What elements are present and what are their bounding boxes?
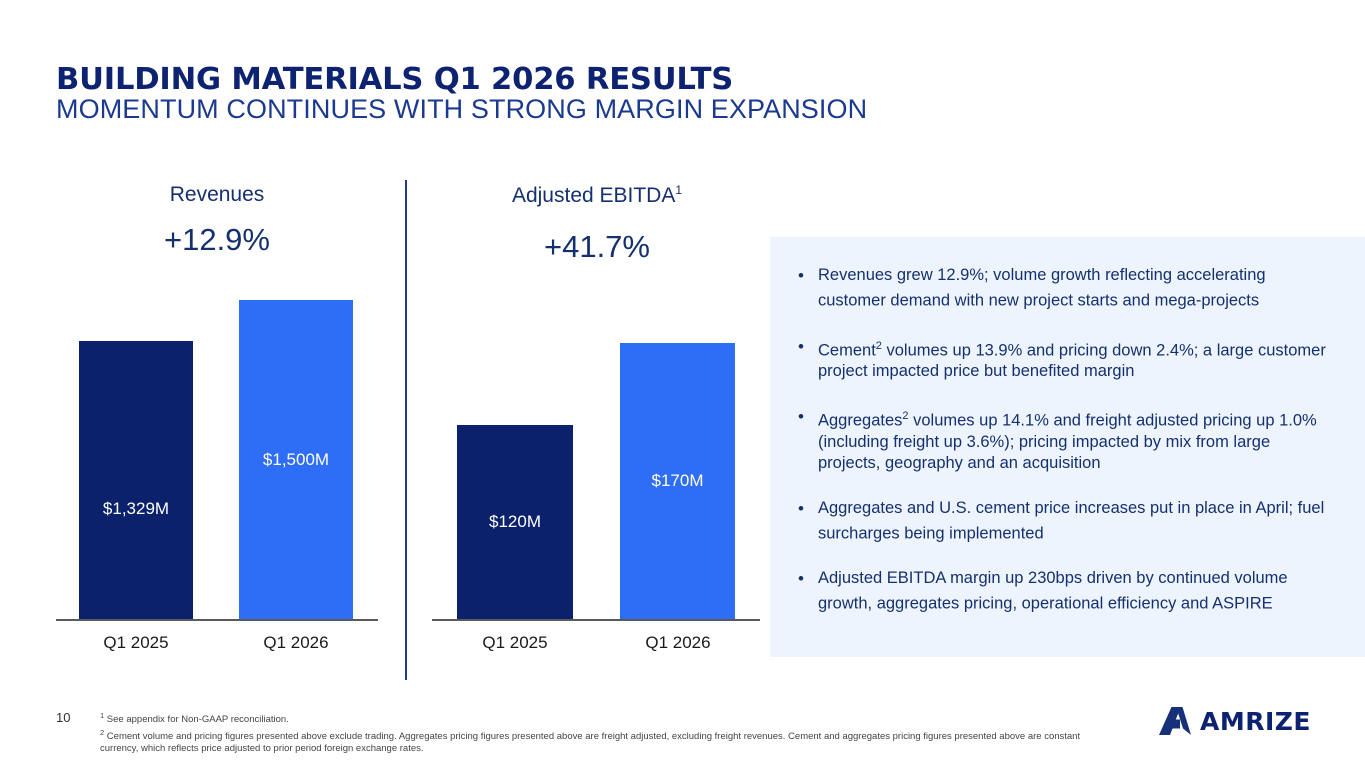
footnote-2-text: Cement volume and pricing figures presen… <box>100 731 1080 755</box>
x-axis-ebitda <box>432 619 760 621</box>
bullet-text-pre: Revenues grew 12.9%; volume growth refle… <box>818 266 1266 310</box>
bar-value-label: $1,329M <box>103 499 169 519</box>
cat-label-ebitda-q1-2026: Q1 2026 <box>618 633 738 653</box>
bullet-text-pre: Cement <box>818 341 876 359</box>
bullet-text-pre: Aggregates and U.S. cement price increas… <box>818 499 1324 543</box>
cat-label-ebitda-q1-2025: Q1 2025 <box>455 633 575 653</box>
bullet-text-pre: Adjusted EBITDA margin up 230bps driven … <box>818 569 1288 613</box>
footnote-1: 1 See appendix for Non-GAAP reconciliati… <box>100 710 1100 727</box>
bar-ebitda-q1-2025[interactable]: $120M <box>457 425 573 619</box>
amrize-logo-text: AMRIZE <box>1200 707 1311 736</box>
bar-value-label: $120M <box>489 512 541 532</box>
chart-ebitda-title: Adjusted EBITDA1 <box>436 183 758 208</box>
chart-revenues-delta: +12.9% <box>56 222 378 258</box>
list-item: • Aggregates and U.S. cement price incre… <box>798 498 1331 545</box>
page-subtitle: MOMENTUM CONTINUES WITH STRONG MARGIN EX… <box>56 94 867 125</box>
bullet-dot-icon: • <box>798 568 818 589</box>
amrize-logo-mark-icon <box>1158 706 1192 736</box>
chart-ebitda-title-text: Adjusted EBITDA <box>512 184 675 207</box>
chart-divider <box>405 180 407 680</box>
footnotes: 1 See appendix for Non-GAAP reconciliati… <box>100 710 1100 756</box>
bullet-dot-icon: • <box>798 265 818 286</box>
footnote-1-text: See appendix for Non-GAAP reconciliation… <box>104 714 289 725</box>
page-title: BUILDING MATERIALS Q1 2026 RESULTS <box>56 62 733 97</box>
list-item: • Adjusted EBITDA margin up 230bps drive… <box>798 568 1331 615</box>
amrize-logo: AMRIZE <box>1158 706 1311 736</box>
bullet-text: Aggregates2 volumes up 14.1% and freight… <box>818 406 1331 474</box>
chart-ebitda-title-superscript: 1 <box>675 183 682 197</box>
cat-label-revenues-q1-2025: Q1 2025 <box>76 633 196 653</box>
bar-value-label: $170M <box>652 471 704 491</box>
bullet-text: Cement2 volumes up 13.9% and pricing dow… <box>818 336 1331 383</box>
bullet-text: Aggregates and U.S. cement price increas… <box>818 498 1331 545</box>
chart-revenues-title-text: Revenues <box>170 183 265 206</box>
bar-ebitda-q1-2026[interactable]: $170M <box>620 343 735 619</box>
bullet-dot-icon: • <box>798 406 818 427</box>
list-item: • Cement2 volumes up 13.9% and pricing d… <box>798 336 1331 383</box>
footnote-2: 2 Cement volume and pricing figures pres… <box>100 727 1100 756</box>
bullet-text: Revenues grew 12.9%; volume growth refle… <box>818 265 1331 312</box>
bullet-text-post: volumes up 13.9% and pricing down 2.4%; … <box>818 341 1326 380</box>
x-axis-revenues <box>56 619 378 621</box>
bar-value-label: $1,500M <box>263 450 329 470</box>
bar-revenues-q1-2026[interactable]: $1,500M <box>239 300 353 619</box>
bullet-text: Adjusted EBITDA margin up 230bps driven … <box>818 568 1331 615</box>
slide-root: BUILDING MATERIALS Q1 2026 RESULTS MOMEN… <box>0 0 1365 768</box>
chart-ebitda-delta: +41.7% <box>436 229 758 265</box>
bar-revenues-q1-2025[interactable]: $1,329M <box>79 341 193 619</box>
list-item: • Aggregates2 volumes up 14.1% and freig… <box>798 406 1331 474</box>
bullet-dot-icon: • <box>798 498 818 519</box>
chart-revenues-title: Revenues <box>56 183 378 207</box>
list-item: • Revenues grew 12.9%; volume growth ref… <box>798 265 1331 312</box>
page-number: 10 <box>56 710 70 725</box>
bullet-dot-icon: • <box>798 336 818 357</box>
cat-label-revenues-q1-2026: Q1 2026 <box>236 633 356 653</box>
commentary-panel: • Revenues grew 12.9%; volume growth ref… <box>770 237 1365 657</box>
bullet-text-pre: Aggregates <box>818 412 902 430</box>
